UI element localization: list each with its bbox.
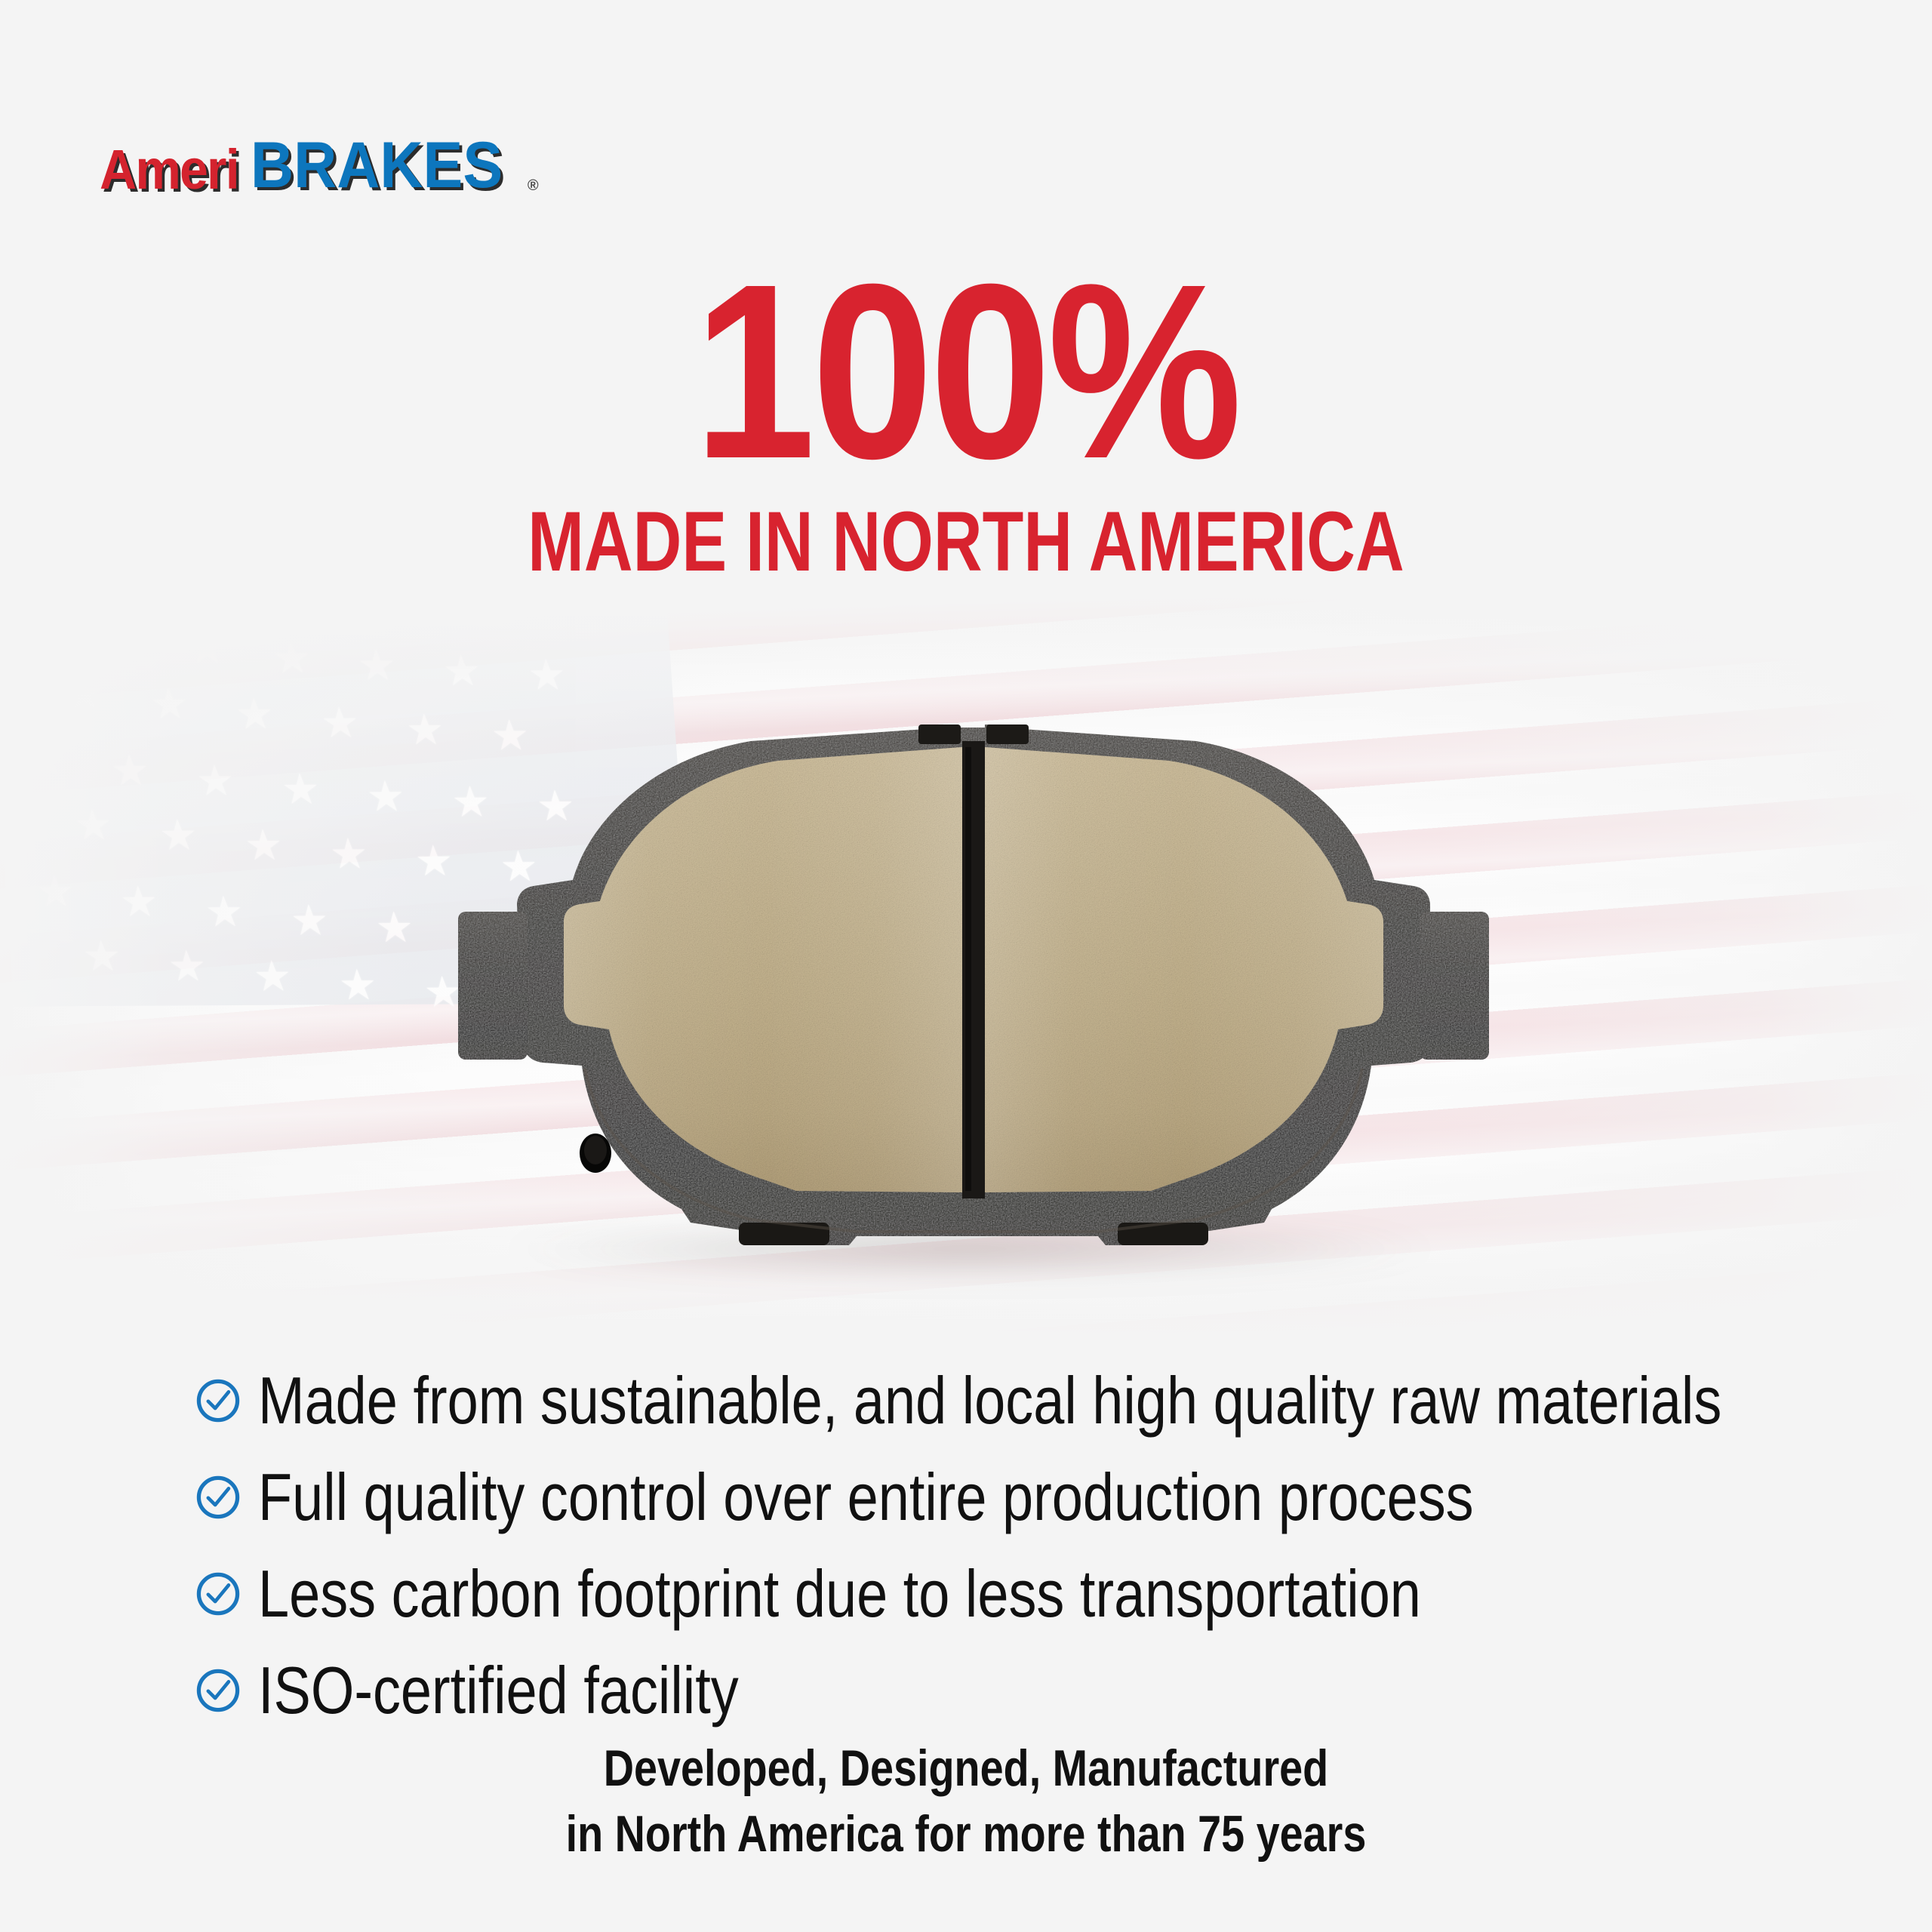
logo-text-brakes: BRAKES (251, 133, 503, 198)
logo-text-ameri: Ameri (100, 142, 238, 198)
list-item: Full quality control over entire product… (195, 1455, 1749, 1540)
list-item: ISO-certified facility (195, 1648, 1749, 1733)
list-item: Less carbon footprint due to less transp… (195, 1552, 1749, 1636)
ameribrakes-logo[interactable]: Ameri BRAKES ® (100, 133, 539, 198)
list-item-label: ISO-certified facility (258, 1656, 739, 1725)
footer-line-two: in North America for more than 75 years (174, 1801, 1758, 1867)
registered-trademark-icon: ® (528, 178, 539, 193)
product-infographic: ★ ★ ★ ★ ★ ★ ★ ★ ★ ★ ★ ★ ★ ★ ★ ★ ★ ★ ★ ★ (0, 0, 1932, 1932)
check-circle-icon (195, 1667, 241, 1714)
brake-pad-illustration (268, 724, 1672, 1283)
brake-pad-right-tab (1420, 912, 1489, 1060)
brake-pad-left-tab (458, 912, 528, 1060)
brake-pad-top-notch-right (986, 724, 1029, 744)
footer-line-one: Developed, Designed, Manufactured (174, 1736, 1758, 1801)
check-circle-icon (195, 1377, 241, 1424)
list-item-label: Full quality control over entire product… (258, 1463, 1474, 1532)
check-circle-icon (195, 1571, 241, 1617)
list-item-label: Less carbon footprint due to less transp… (258, 1559, 1421, 1629)
brake-pad-bottom-notch-right (1118, 1223, 1208, 1245)
brake-pad-image (268, 724, 1672, 1283)
check-circle-icon (195, 1474, 241, 1521)
headline-percent: 100% (116, 257, 1817, 486)
brake-pad-top-notch-left (918, 724, 961, 744)
feature-list: Made from sustainable, and local high qu… (195, 1358, 1749, 1745)
headline-subtitle: MADE IN NORTH AMERICA (193, 500, 1739, 584)
footer-block: Developed, Designed, Manufactured in Nor… (0, 1736, 1932, 1867)
list-item-label: Made from sustainable, and local high qu… (258, 1366, 1721, 1435)
headline-block: 100% MADE IN NORTH AMERICA (0, 257, 1932, 584)
list-item: Made from sustainable, and local high qu… (195, 1358, 1749, 1443)
